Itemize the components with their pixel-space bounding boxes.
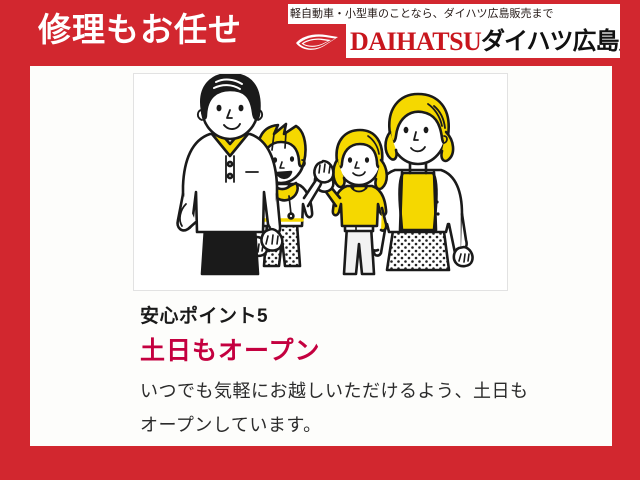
- page-title: 修理もお任せ: [38, 8, 242, 52]
- dealer-name: ダイハツ広島販売: [481, 26, 620, 58]
- body-text: いつでも気軽にお越しいただけるよう、土日もオープンしています。: [140, 374, 540, 442]
- point-label: 安心ポイント5: [140, 304, 268, 330]
- logo-row: DAIHATSU ダイハツ広島販売: [288, 24, 620, 60]
- logo-underline: [288, 58, 620, 62]
- daihatsu-wordmark: DAIHATSU: [350, 25, 481, 59]
- header: 修理もお任せ 軽自動車・小型車のことなら、ダイハツ広島販売まで DAIHATSU…: [0, 0, 640, 66]
- brand-logo-block: 軽自動車・小型車のことなら、ダイハツ広島販売まで DAIHATSU ダイハツ広島…: [288, 4, 620, 62]
- content-panel: 安心ポイント5 土日もオープン いつでも気軽にお越しいただけるよう、土日もオープ…: [30, 66, 612, 446]
- family-illustration: [133, 73, 508, 291]
- promo-banner: 修理もお任せ 軽自動車・小型車のことなら、ダイハツ広島販売まで DAIHATSU…: [0, 0, 640, 480]
- point-headline: 土日もオープン: [140, 334, 321, 368]
- daihatsu-d-emblem-icon: [288, 24, 346, 60]
- logo-tagline: 軽自動車・小型車のことなら、ダイハツ広島販売まで: [288, 4, 620, 24]
